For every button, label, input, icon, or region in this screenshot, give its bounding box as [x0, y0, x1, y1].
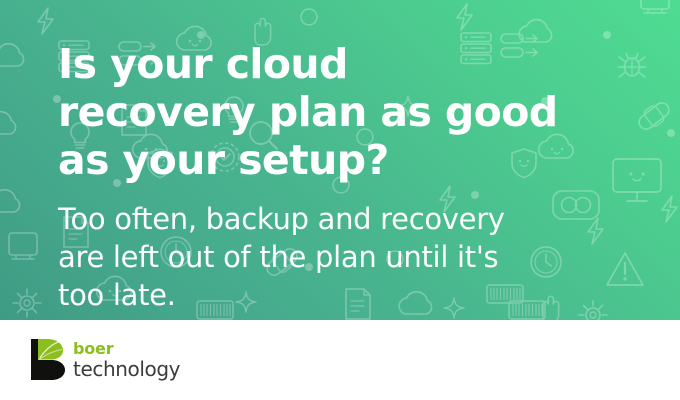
boer-b-logo-icon — [31, 339, 65, 380]
promo-banner: Is your cloud recovery plan as good as y… — [0, 0, 680, 400]
logo-brand-suffix: technology — [73, 358, 180, 380]
logo-wordmark: boer technology — [73, 340, 180, 380]
hero-gradient-background: Is your cloud recovery plan as good as y… — [0, 0, 680, 320]
footer-bar: boer technology — [0, 320, 680, 400]
page-subtitle: Too often, backup and recovery are left … — [58, 184, 548, 314]
logo-brand-name: boer — [73, 340, 180, 357]
hero-copy: Is your cloud recovery plan as good as y… — [58, 40, 578, 314]
boer-technology-logo[interactable]: boer technology — [31, 339, 180, 380]
page-title: Is your cloud recovery plan as good as y… — [58, 40, 558, 184]
